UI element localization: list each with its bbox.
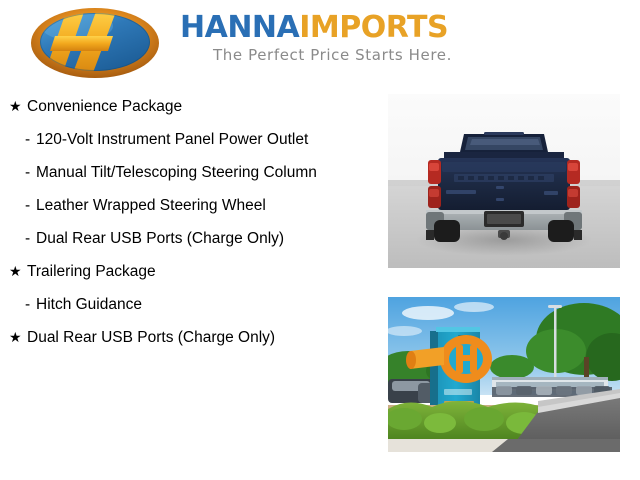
- list-item-label: Manual Tilt/Telescoping Steering Column: [36, 163, 336, 182]
- list-item-label: Dual Rear USB Ports (Charge Only): [27, 328, 327, 347]
- list-item: ★ Trailering Package: [0, 262, 380, 281]
- vehicle-features-list: ★ Convenience Package - 120-Volt Instrum…: [0, 88, 380, 480]
- list-item-label: 120-Volt Instrument Panel Power Outlet: [36, 130, 336, 149]
- list-item: - Manual Tilt/Telescoping Steering Colum…: [0, 163, 380, 182]
- list-item: ★ Dual Rear USB Ports (Charge Only): [0, 328, 380, 347]
- brand-name-secondary: IMPORTS: [299, 10, 448, 45]
- list-item: - Hitch Guidance: [0, 295, 380, 314]
- star-bullet-icon: ★: [9, 97, 27, 116]
- brand-name-line: HANNAIMPORTS: [180, 12, 520, 44]
- dash-bullet-icon: -: [25, 295, 36, 314]
- dash-bullet-icon: -: [25, 163, 36, 182]
- list-item: - Leather Wrapped Steering Wheel: [0, 196, 380, 215]
- dash-bullet-icon: -: [25, 130, 36, 149]
- star-bullet-icon: ★: [9, 262, 27, 281]
- list-item-label: Dual Rear USB Ports (Charge Only): [36, 229, 336, 248]
- list-item-label: Leather Wrapped Steering Wheel: [36, 196, 336, 215]
- list-item: - 120-Volt Instrument Panel Power Outlet: [0, 130, 380, 149]
- list-item: ★ Convenience Package: [0, 97, 380, 116]
- brand-wordmark: HANNAIMPORTS The Perfect Price Starts He…: [180, 12, 520, 74]
- brand-name-primary: HANNA: [180, 10, 299, 45]
- brand-tagline: The Perfect Price Starts Here.: [180, 46, 485, 64]
- vehicle-rear-view-photo[interactable]: [388, 94, 620, 268]
- list-item-label: Hitch Guidance: [36, 295, 336, 314]
- list-item: - Dual Rear USB Ports (Charge Only): [0, 229, 380, 248]
- star-bullet-icon: ★: [9, 328, 27, 347]
- dash-bullet-icon: -: [25, 229, 36, 248]
- dash-bullet-icon: -: [25, 196, 36, 215]
- dealership-exterior-photo[interactable]: [388, 297, 620, 452]
- hanna-oval-h-logo: [25, 6, 175, 80]
- list-item-label: Convenience Package: [27, 97, 327, 116]
- dealer-header-banner: HANNAIMPORTS The Perfect Price Starts He…: [0, 0, 640, 88]
- list-item-label: Trailering Package: [27, 262, 327, 281]
